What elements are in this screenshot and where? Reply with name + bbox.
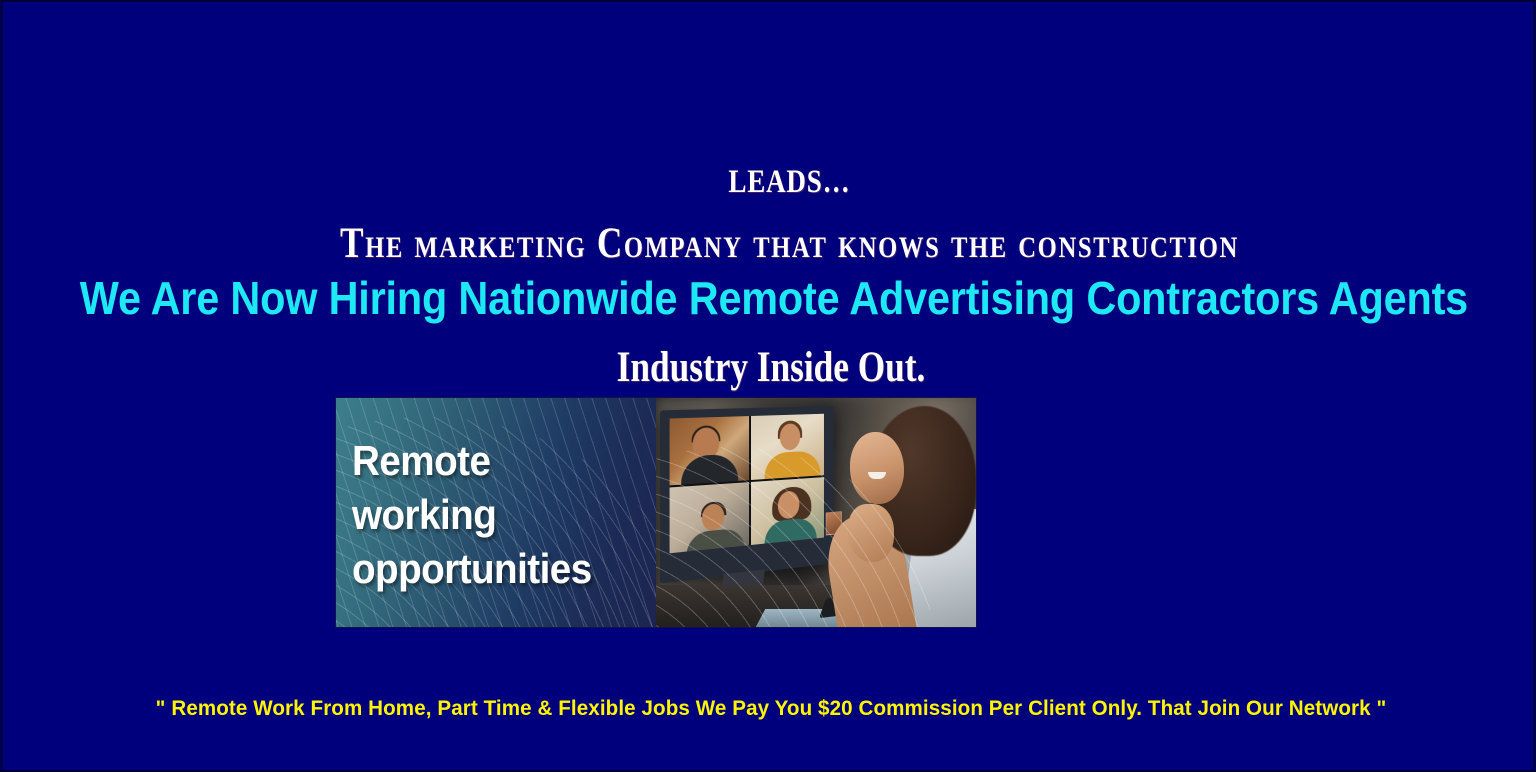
banner-headline-line2: opportunities [352, 542, 619, 596]
remote-working-banner[interactable]: Remote working opportunities [336, 398, 976, 627]
participant-body [765, 451, 821, 480]
video-tile-1 [670, 416, 749, 485]
video-tile-3 [670, 482, 749, 554]
headline-line2: Industry Inside Out. [141, 337, 1401, 399]
video-tile-2 [751, 414, 824, 480]
banner-photo [656, 398, 976, 627]
monitor [660, 406, 834, 584]
banner-left-panel: Remote working opportunities [336, 398, 656, 627]
banner-headline-line1: Remote working [352, 434, 619, 542]
participant-body [686, 528, 745, 553]
woman-face [850, 432, 904, 504]
participant-body [765, 517, 817, 545]
video-tile-4 [751, 477, 824, 545]
woman-hand [848, 504, 894, 562]
hiring-subheading: We Are Now Hiring Nationwide Remote Adve… [80, 270, 1462, 326]
headline-lead-word: LEADS… [728, 164, 850, 200]
headline-line1: The marketing Company that knows the con… [340, 220, 1239, 267]
banner-headline: Remote working opportunities [352, 434, 619, 596]
participant-body [681, 453, 738, 484]
participant-face [702, 503, 724, 531]
participant-face [779, 423, 800, 450]
woman-photo-subject [827, 400, 976, 627]
video-call-grid [670, 414, 824, 554]
page-root: LEADS… The marketing Company that knows … [0, 0, 1536, 772]
commission-footer-note: " Remote Work From Home, Part Time & Fle… [18, 696, 1523, 722]
